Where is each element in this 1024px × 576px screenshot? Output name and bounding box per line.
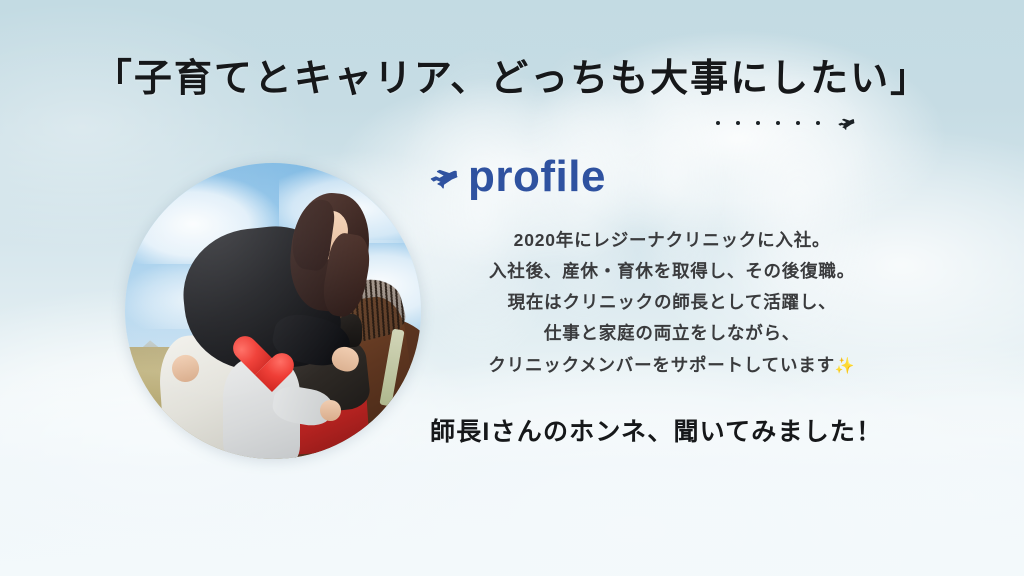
profile-heading: profile [430,155,920,199]
profile-body-line: 入社後、産休・育休を取得し、その後復職。 [430,256,914,287]
profile-body-line: 2020年にレジーナクリニックに入社。 [430,225,914,256]
page-title: 「子育てとキャリア、どっちも大事にしたい」 [0,47,1024,102]
kicker-text: 師長Iさんのホンネ、聞いてみました！ [430,412,930,448]
trail-dot [796,121,800,125]
trail-dot [716,121,720,125]
trail-dot [816,121,820,125]
profile-heading-label: profile [468,155,606,199]
profile-body: 2020年にレジーナクリニックに入社。 入社後、産休・育休を取得し、その後復職。… [430,225,920,381]
trail-dot [776,121,780,125]
plane-trail [716,114,856,132]
profile-body-line-last: クリニックメンバーをサポートしています✨ [430,350,914,381]
photo-content [125,163,421,459]
heart-face-mask-icon [226,329,285,388]
heart-icon [232,337,278,379]
child-hand [320,400,341,421]
profile-column: profile 2020年にレジーナクリニックに入社。 入社後、産休・育休を取得… [430,155,920,381]
profile-body-line: クリニックメンバーをサポートしています [488,355,834,375]
trail-dot [736,121,740,125]
trail-dot [756,121,760,125]
slide-canvas: 「子育てとキャリア、どっちも大事にしたい」 [0,0,1024,576]
sparkle-icon: ✨ [835,358,856,375]
airplane-icon [838,114,856,132]
profile-body-line: 現在はクリニックの師長として活躍し、 [430,287,914,318]
profile-body-line: 仕事と家庭の両立をしながら、 [430,318,914,349]
airplane-icon [430,162,460,192]
profile-photo [125,163,421,459]
